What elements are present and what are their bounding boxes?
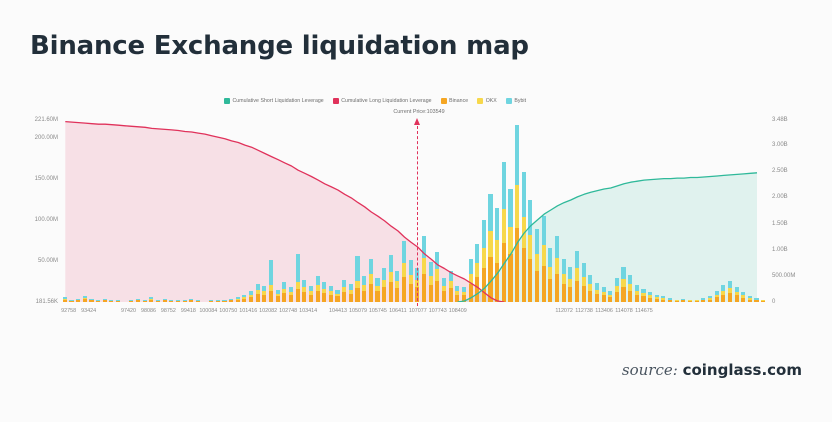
x-axis-tick: 98752 [161, 308, 176, 314]
legend-label: Cumulative Long Liquidation Leverage [341, 98, 431, 104]
chart-page: Binance Exchange liquidation map Cumulat… [0, 0, 832, 422]
legend-item[interactable]: Cumulative Short Liquidation Leverage [224, 98, 324, 104]
source-prefix: source: [622, 361, 678, 379]
x-axis-tick: 92758 [61, 308, 76, 314]
right-y-axis: 0500.00M1.00B1.50B2.00B2.50B3.00B3.48B [772, 113, 830, 308]
x-axis-tick: 113406 [595, 308, 613, 314]
legend-swatch-icon [441, 98, 447, 104]
x-axis-tick: 103414 [299, 308, 317, 314]
source-credit: source: coinglass.com [622, 361, 802, 379]
x-axis-tick: 99418 [181, 308, 196, 314]
y-axis-tick-left: 150.00M [35, 176, 58, 182]
x-axis-tick: 107077 [409, 308, 427, 314]
current-price-label: Current Price:103549 [379, 109, 459, 115]
plot-inner [62, 120, 767, 302]
x-axis-tick: 97420 [121, 308, 136, 314]
y-axis-tick-right: 3.48B [772, 117, 788, 123]
plot-area [62, 120, 767, 302]
x-axis-tick: 102748 [279, 308, 297, 314]
y-axis-tick-right: 500.00M [772, 273, 795, 279]
x-axis-tick: 105079 [349, 308, 367, 314]
legend-item[interactable]: Cumulative Long Liquidation Leverage [333, 98, 432, 104]
x-axis-tick: 93424 [81, 308, 96, 314]
legend-item[interactable]: Bybit [506, 98, 526, 104]
x-axis-tick: 100084 [199, 308, 217, 314]
legend-swatch-icon [477, 98, 483, 104]
legend-label: Cumulative Short Liquidation Leverage [233, 98, 324, 104]
x-axis-tick: 98086 [141, 308, 156, 314]
cumulative-lines-overlay [62, 120, 767, 302]
x-axis-tick: 101416 [239, 308, 257, 314]
x-axis-tick: 114078 [615, 308, 633, 314]
legend-label: Binance [449, 98, 468, 104]
y-axis-tick-right: 0 [772, 299, 775, 305]
x-axis-tick: 107743 [429, 308, 447, 314]
x-axis-tick: 106411 [389, 308, 407, 314]
legend-label: Bybit [514, 98, 526, 104]
x-axis-tick: 108409 [449, 308, 467, 314]
legend-item[interactable]: Binance [441, 98, 469, 104]
legend-swatch-icon [224, 98, 230, 104]
cumulative-line [458, 173, 757, 302]
x-axis-tick: 105745 [369, 308, 387, 314]
y-axis-tick-left: 100.00M [35, 217, 58, 223]
y-axis-tick-right: 2.00B [772, 194, 788, 200]
y-axis-tick-right: 1.00B [772, 247, 788, 253]
x-axis: 9275893424974209808698752994181000841007… [62, 308, 767, 320]
x-axis-tick: 112738 [575, 308, 593, 314]
chart-legend: Cumulative Short Liquidation LeverageCum… [224, 98, 526, 104]
current-price-line [417, 126, 418, 306]
current-price-marker: Current Price:103549 [417, 118, 418, 306]
x-axis-tick: 114675 [635, 308, 653, 314]
y-axis-tick-left: 200.00M [35, 135, 58, 141]
x-axis-tick: 104413 [329, 308, 347, 314]
x-axis-tick: 102082 [259, 308, 277, 314]
x-axis-tick: 112072 [555, 308, 573, 314]
y-axis-tick-left: 181.56K [36, 299, 58, 305]
page-title: Binance Exchange liquidation map [30, 31, 529, 61]
x-axis-tick: 100750 [219, 308, 237, 314]
y-axis-tick-left: 221.60M [35, 117, 58, 123]
legend-swatch-icon [506, 98, 512, 104]
y-axis-tick-right: 2.50B [772, 168, 788, 174]
legend-item[interactable]: OKX [477, 98, 497, 104]
y-axis-tick-right: 3.00B [772, 142, 788, 148]
y-axis-tick-left: 50.00M [38, 258, 58, 264]
current-price-arrow-icon [414, 118, 420, 125]
legend-swatch-icon [333, 98, 339, 104]
left-y-axis: 181.56K50.00M100.00M150.00M200.00M221.60… [0, 113, 58, 308]
source-name: coinglass.com [683, 361, 802, 379]
legend-label: OKX [486, 98, 497, 104]
cumulative-line [65, 122, 504, 302]
y-axis-tick-right: 1.50B [772, 221, 788, 227]
